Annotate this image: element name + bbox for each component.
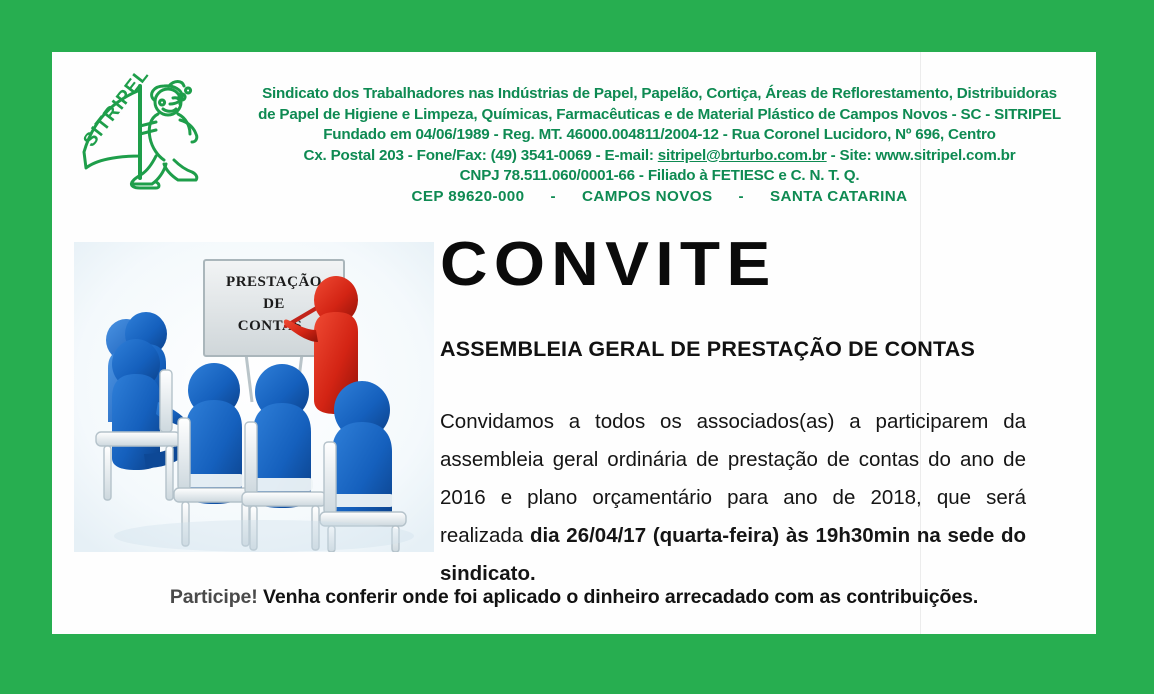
org-line-3: Fundado em 04/06/1989 - Reg. MT. 46000.0…	[232, 125, 1087, 146]
state-text: SANTA CATARINA	[770, 188, 908, 205]
svg-text:PRESTAÇÃO: PRESTAÇÃO	[226, 272, 322, 290]
sitripel-logo-icon: SITRIPEL	[70, 64, 210, 204]
org-line-2: de Papel de Higiene e Limpeza, Químicas,…	[232, 105, 1087, 126]
svg-text:DE: DE	[263, 296, 285, 312]
scanned-page: SITRIPEL Sindicato dos Trabalhadores nas…	[52, 52, 1096, 634]
org-line-1: Sindicato dos Trabalhadores nas Indústri…	[232, 84, 1087, 105]
org-line-4: Cx. Postal 203 - Fone/Fax: (49) 3541-006…	[232, 146, 1087, 167]
tagline-lead: Participe!	[170, 586, 258, 608]
dash-1: -	[551, 188, 556, 205]
flyer-screen: SITRIPEL Sindicato dos Trabalhadores nas…	[0, 0, 1154, 694]
city-text: CAMPOS NOVOS	[582, 188, 713, 205]
page-title: CONVITE	[440, 234, 1046, 296]
letterhead-header: SITRIPEL Sindicato dos Trabalhadores nas…	[52, 52, 1096, 220]
svg-text:SITRIPEL: SITRIPEL	[79, 64, 153, 151]
contact-prefix: Cx. Postal 203 - Fone/Fax: (49) 3541-006…	[304, 147, 658, 164]
subtitle: ASSEMBLEIA GERAL DE PRESTAÇÃO DE CONTAS	[440, 337, 1040, 362]
tagline-rest: Venha conferir onde foi aplicado o dinhe…	[258, 586, 978, 608]
email-link[interactable]: sitripel@brturbo.com.br	[658, 147, 827, 164]
body-paragraph: Convidamos a todos os associados(as) a p…	[440, 403, 1026, 593]
audience-figure-front-1	[186, 363, 244, 504]
org-line-5: CNPJ 78.511.060/0001-66 - Filiado à FETI…	[232, 166, 1087, 187]
audience-figure-front-2	[253, 364, 313, 508]
org-line-6: CEP 89620-000-CAMPOS NOVOS-SANTA CATARIN…	[232, 187, 1087, 208]
footer-tagline: Participe! Venha conferir onde foi aplic…	[52, 586, 1096, 609]
dash-2: -	[739, 188, 744, 205]
meeting-illustration: PRESTAÇÃO DE CONTAS	[74, 242, 434, 552]
audience-figure-front-3	[332, 381, 394, 526]
cep-text: CEP 89620-000	[412, 188, 525, 205]
site-text: - Site: www.sitripel.com.br	[827, 147, 1016, 164]
organization-details: Sindicato dos Trabalhadores nas Indústri…	[232, 84, 1087, 207]
